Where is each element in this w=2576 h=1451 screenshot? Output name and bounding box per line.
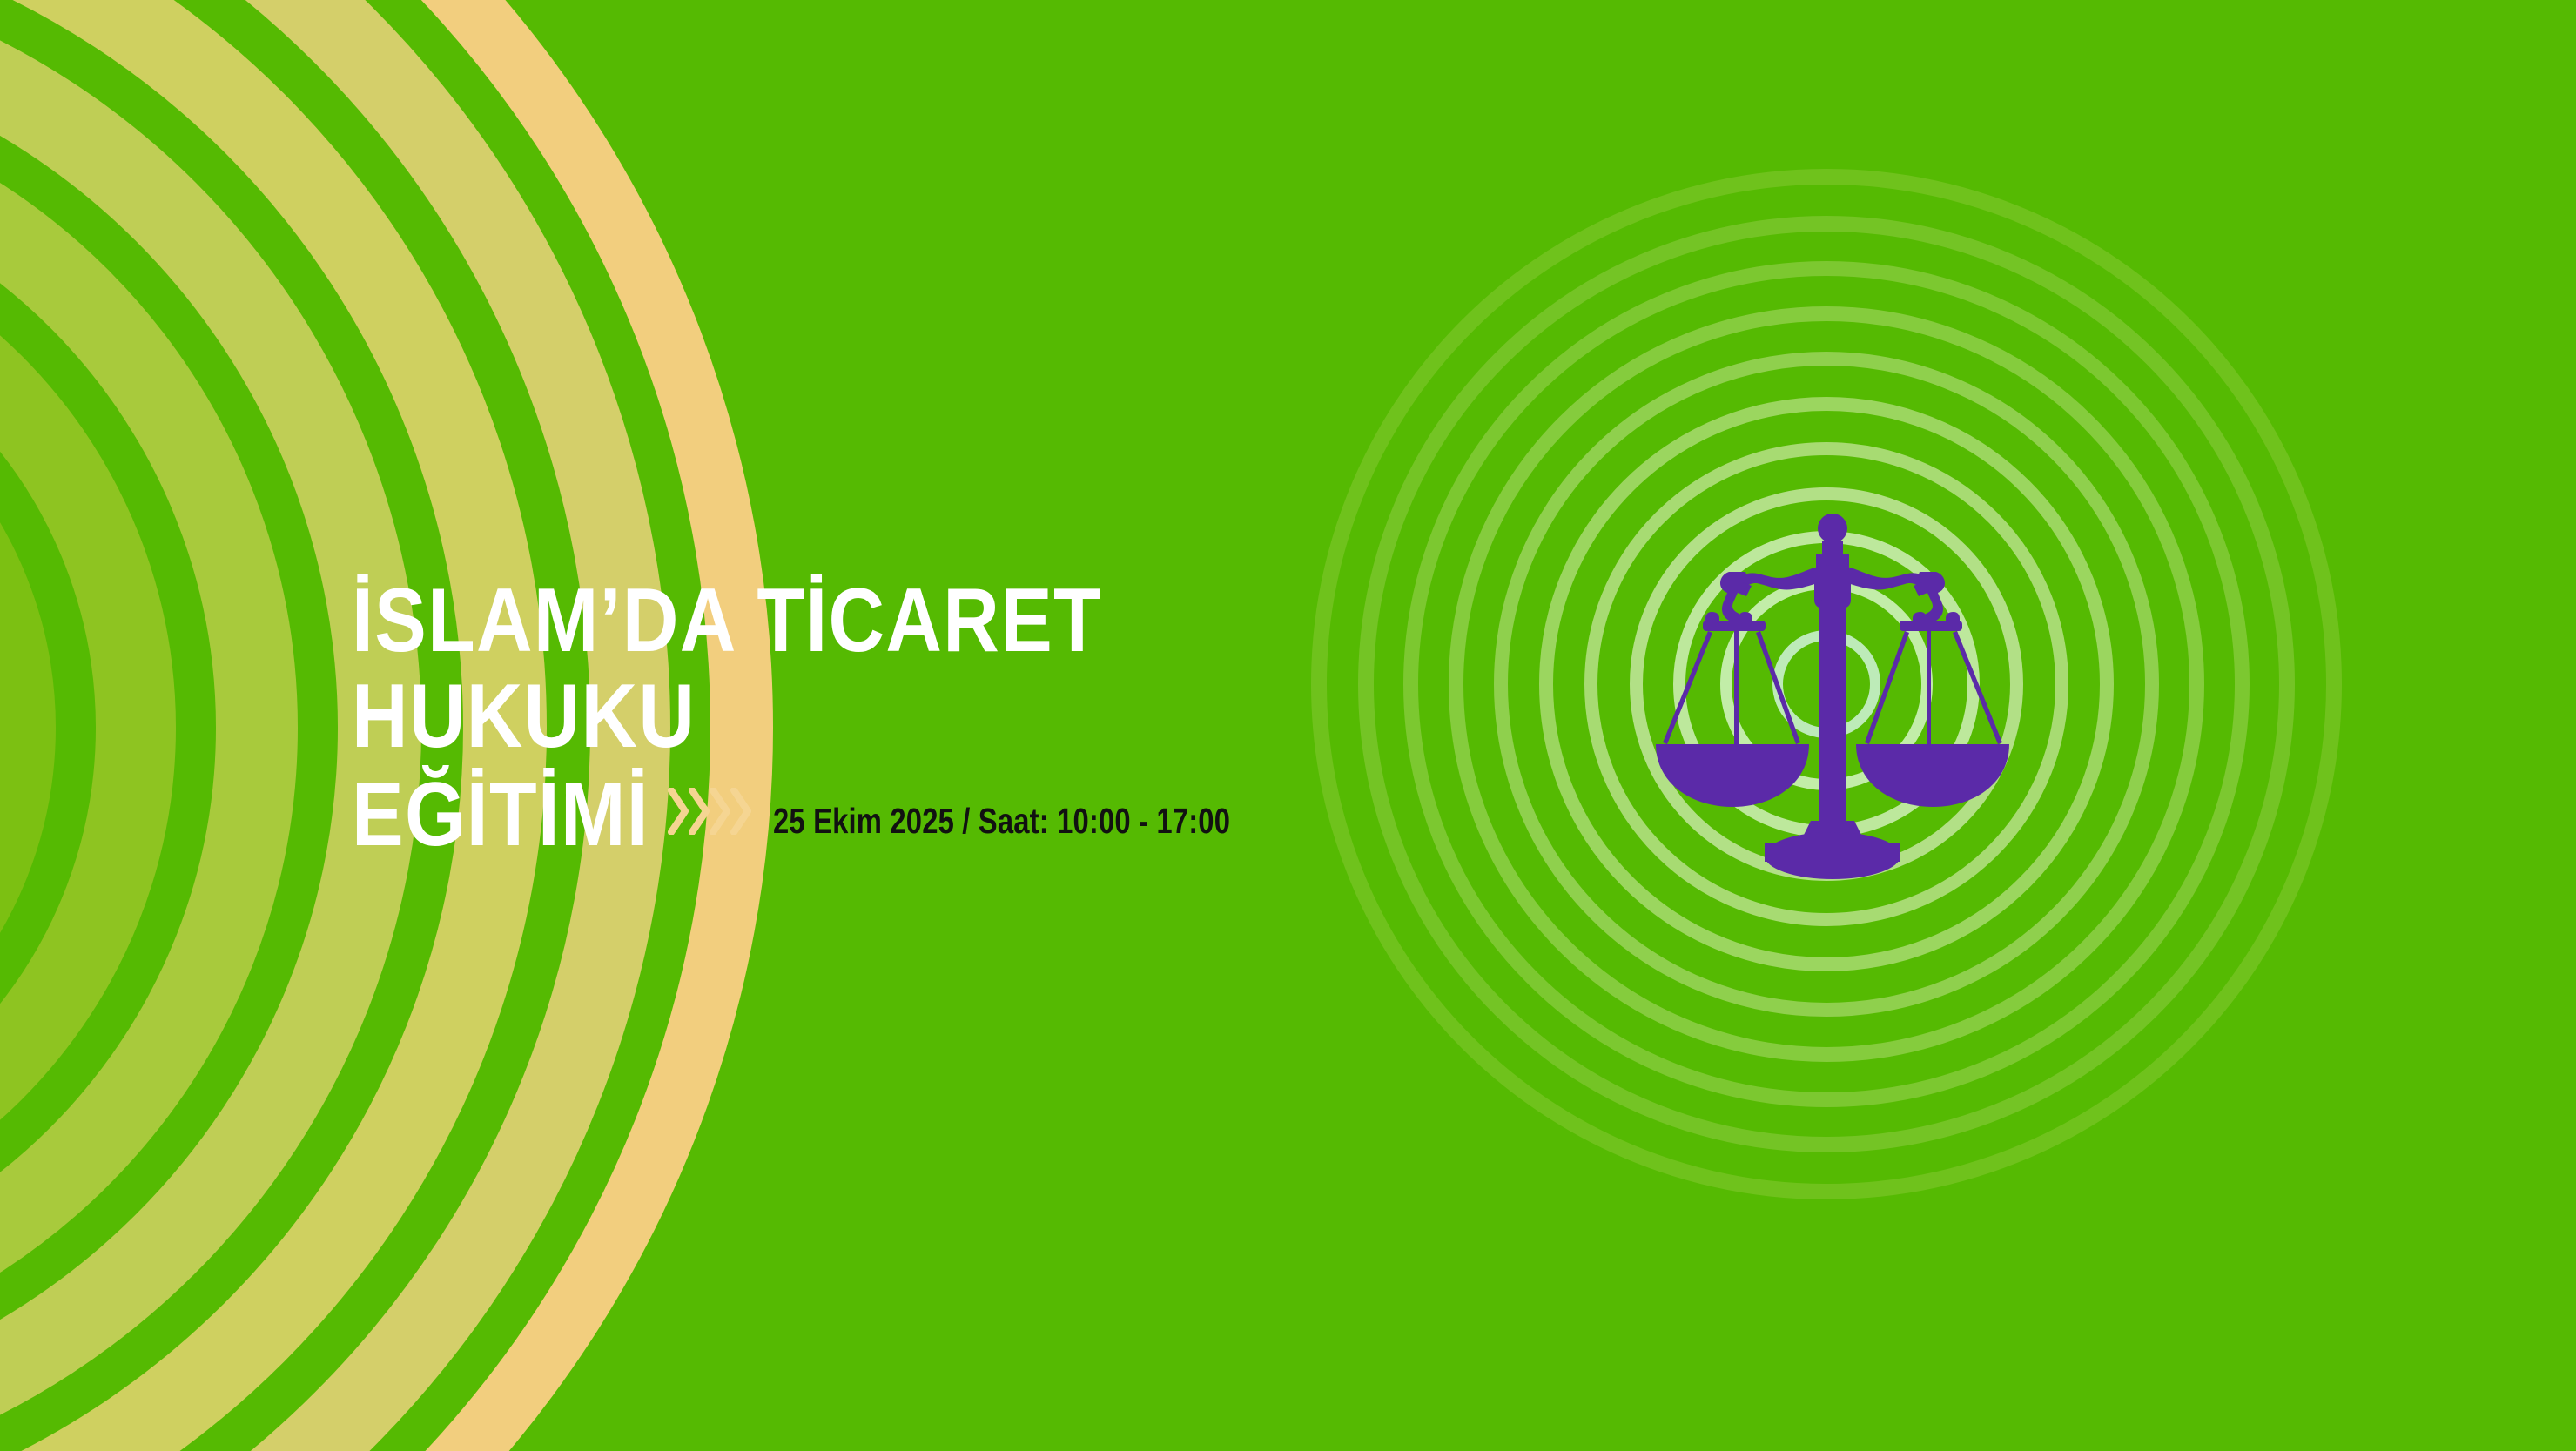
- title-line-3: EĞİTİMİ: [352, 776, 649, 856]
- chevron-right-icon: [688, 788, 710, 835]
- subtitle-row: EĞİTİMİ 25 Ekim 2025 / Saat: 10:00 - 17:…: [352, 776, 1344, 856]
- chevron-group: [667, 788, 750, 835]
- left-arc-6: [0, 322, 56, 1133]
- scales-of-justice-icon: [1654, 509, 2011, 883]
- chevron-right-icon: [730, 788, 752, 835]
- headline-block: İSLAM’DA TİCARET HUKUKU EĞİTİMİ 25 Ekim …: [352, 581, 1344, 856]
- title-line-2: HUKUKU: [352, 677, 1205, 757]
- event-date-time: 25 Ekim 2025 / Saat: 10:00 - 17:00: [773, 801, 1230, 842]
- chevron-right-icon: [709, 788, 731, 835]
- left-arc-5: [0, 202, 176, 1253]
- chevron-right-icon: [667, 788, 689, 835]
- left-arc-4: [0, 80, 298, 1375]
- title-line-1: İSLAM’DA TİCARET: [352, 581, 1205, 662]
- event-banner: İSLAM’DA TİCARET HUKUKU EĞİTİMİ 25 Ekim …: [0, 0, 2576, 1451]
